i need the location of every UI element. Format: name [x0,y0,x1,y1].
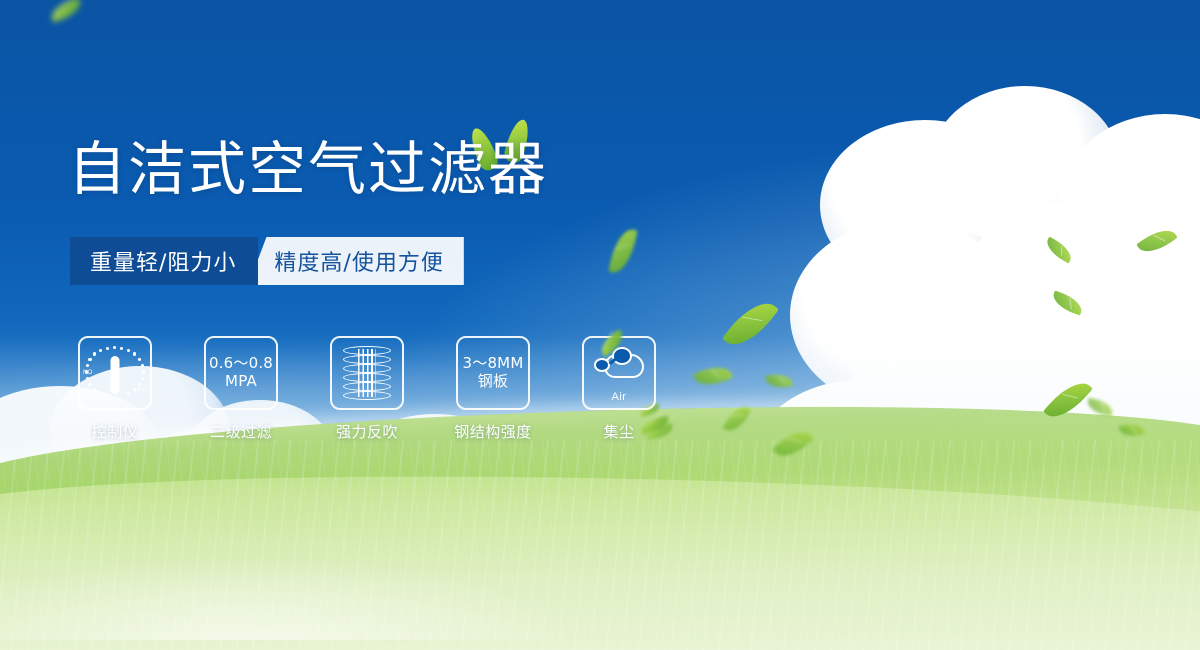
dial-label-no: NO [83,370,93,376]
coil-spring-icon [343,346,391,400]
dial-needle [111,356,120,394]
feature-item-blowback[interactable]: 强力反吹 [330,336,404,442]
subtitle-tag-left: 重量轻/阻力小 [70,237,258,285]
feature-icon-box: NO OFF [78,336,152,410]
feature-icon-box: 0.6〜0.8 MPA [204,336,278,410]
page-title: 自洁式空气过滤器 [68,140,548,198]
dial-label-off: OFF [134,388,147,394]
feature-label: 二级过滤 [210,421,272,442]
feature-label: 控制仪 [92,421,139,442]
subtitle-bar: 重量轻/阻力小 精度高/使用方便 [70,237,464,285]
feature-item-filter[interactable]: 0.6〜0.8 MPA 二级过滤 [204,336,278,442]
air-icon-label: Air [612,391,627,403]
feature-item-control[interactable]: NO OFF 控制仪 [78,336,152,442]
feature-label: 钢结构强度 [454,421,532,442]
air-cloud-icon [592,344,646,390]
steel-plate-text-icon: 3〜8MM 钢板 [463,355,524,390]
dial-gauge-icon: NO OFF [84,344,146,402]
feature-list: NO OFF 控制仪 0.6〜0.8 MPA 二级过滤 [78,336,656,442]
pressure-text-icon: 0.6〜0.8 MPA [209,355,273,390]
feature-icon-box: Air [582,336,656,410]
feature-icon-box [330,336,404,410]
subtitle-tag-right: 精度高/使用方便 [248,237,463,285]
product-banner: 自洁式空气过滤器 重量轻/阻力小 精度高/使用方便 [0,0,1200,650]
feature-item-steel[interactable]: 3〜8MM 钢板 钢结构强度 [456,336,530,442]
grass-highlight [0,490,720,640]
feature-icon-box: 3〜8MM 钢板 [456,336,530,410]
feature-label: 集尘 [603,421,634,442]
feature-label: 强力反吹 [336,421,398,442]
